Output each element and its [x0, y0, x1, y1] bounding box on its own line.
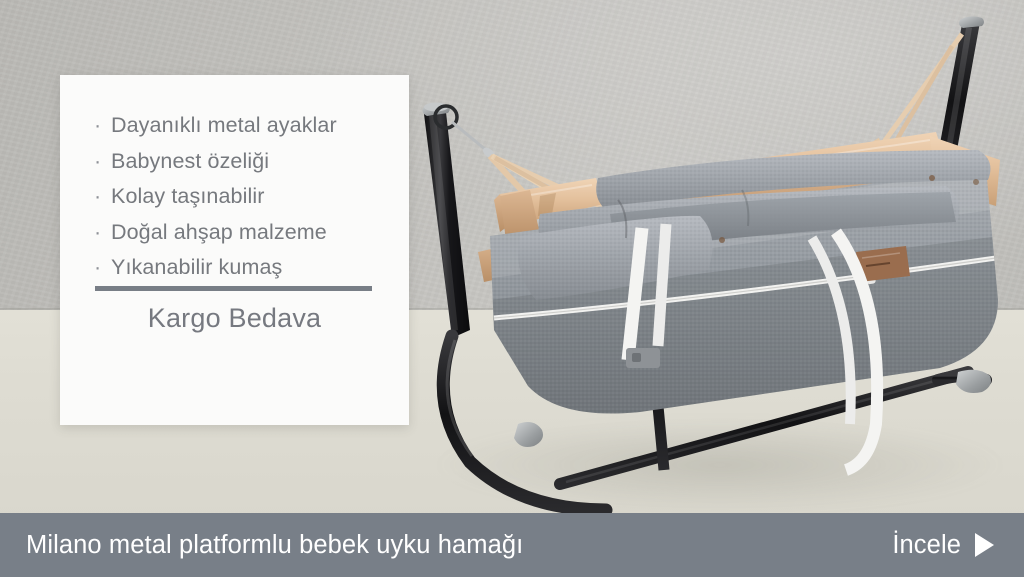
bottom-bar: Milano metal platformlu bebek uyku hamağ… — [0, 513, 1024, 577]
bullet-icon: · — [94, 250, 101, 286]
card-divider — [95, 286, 372, 291]
bullet-icon: · — [94, 108, 101, 144]
bullet-icon: · — [94, 179, 101, 215]
stand-left-post — [423, 103, 471, 339]
feature-label: Babynest özeliği — [111, 149, 269, 173]
product-banner: · Dayanıklı metal ayaklar · Babynest öze… — [0, 0, 1024, 577]
product-title: Milano metal platformlu bebek uyku hamağ… — [26, 531, 523, 560]
info-card: · Dayanıklı metal ayaklar · Babynest öze… — [60, 75, 409, 425]
feature-item: · Kolay taşınabilir — [94, 179, 409, 215]
incele-label: İncele — [892, 531, 961, 560]
shipping-note: Kargo Bedava — [60, 303, 409, 334]
feature-item: · Dayanıklı metal ayaklar — [94, 108, 409, 144]
incele-button[interactable]: İncele — [892, 531, 994, 560]
feature-label: Dayanıklı metal ayaklar — [111, 113, 337, 137]
feature-label: Kolay taşınabilir — [111, 184, 264, 208]
feature-item: · Babynest özeliği — [94, 144, 409, 180]
feature-label: Doğal ahşap malzeme — [111, 220, 327, 244]
feature-list: · Dayanıklı metal ayaklar · Babynest öze… — [60, 75, 409, 286]
feature-label: Yıkanabilir kumaş — [111, 255, 282, 279]
bullet-icon: · — [94, 215, 101, 251]
feature-item: · Yıkanabilir kumaş — [94, 250, 409, 286]
feature-item: · Doğal ahşap malzeme — [94, 215, 409, 251]
bullet-icon: · — [94, 144, 101, 180]
play-triangle-icon — [975, 533, 994, 557]
